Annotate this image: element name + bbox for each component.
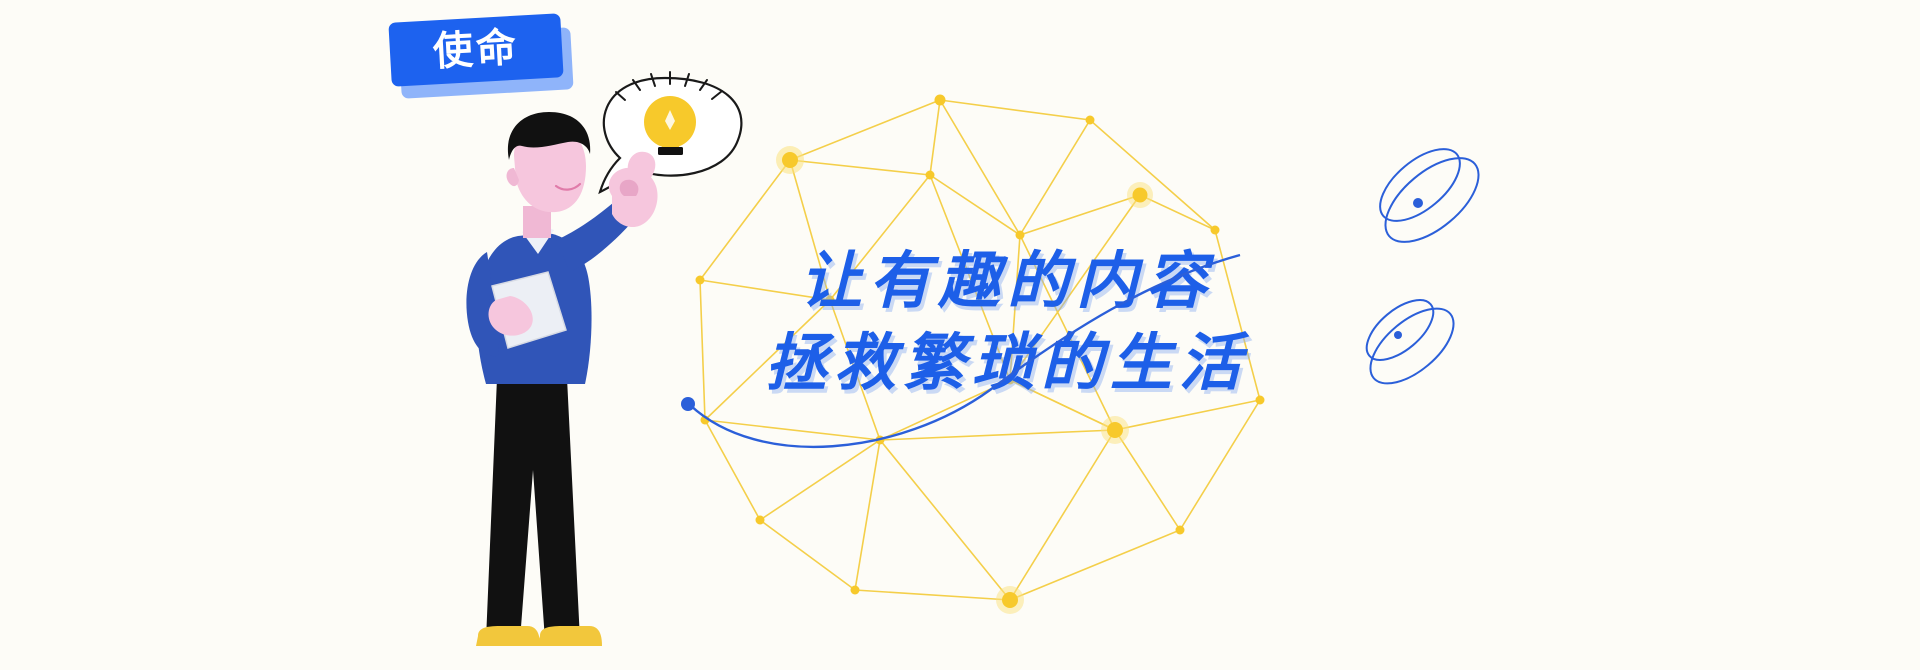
character-shoe-right bbox=[538, 626, 602, 646]
character-trousers bbox=[486, 378, 580, 640]
character-illustration bbox=[0, 0, 1920, 670]
mission-banner: 让有趣的内容 拯救繁琐的生活 bbox=[0, 0, 1920, 670]
character-shoe-left bbox=[476, 626, 540, 646]
